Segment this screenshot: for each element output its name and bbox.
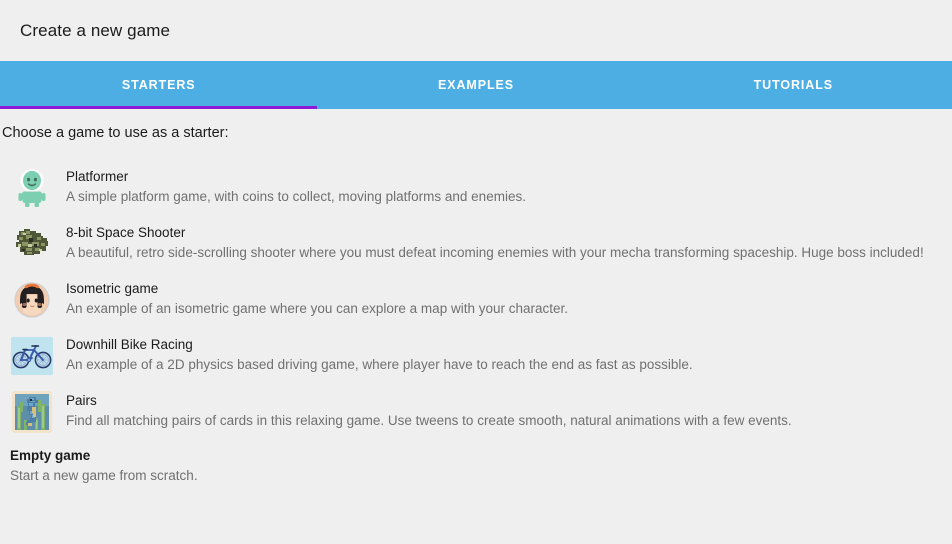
list-item-empty-game[interactable]: Empty game Start a new game from scratch… [0, 440, 952, 492]
list-item[interactable]: Downhill Bike Racing An example of a 2D … [0, 328, 952, 384]
list-item[interactable]: Isometric game An example of an isometri… [0, 272, 952, 328]
empty-game-description: Start a new game from scratch. [10, 466, 938, 486]
tab-examples-label: EXAMPLES [438, 78, 514, 92]
pixel-spaceship-icon [10, 222, 54, 266]
tab-tutorials-label: TUTORIALS [754, 78, 833, 92]
dialog-header: Create a new game [0, 0, 952, 61]
tab-bar: STARTERS EXAMPLES TUTORIALS [0, 61, 952, 109]
green-alien-character-icon [10, 166, 54, 210]
list-item-text: Platformer A simple platform game, with … [66, 166, 938, 207]
list-item-text: Pairs Find all matching pairs of cards i… [66, 390, 938, 431]
game-description: An example of a 2D physics based driving… [66, 355, 938, 375]
list-item[interactable]: Pairs Find all matching pairs of cards i… [0, 384, 952, 440]
tab-examples[interactable]: EXAMPLES [317, 61, 634, 109]
game-description: A simple platform game, with coins to co… [66, 187, 938, 207]
tab-starters-label: STARTERS [122, 78, 196, 92]
tab-tutorials[interactable]: TUTORIALS [635, 61, 952, 109]
game-description: Find all matching pairs of cards in this… [66, 411, 938, 431]
seahorse-card-icon [10, 390, 54, 434]
page-title: Create a new game [20, 21, 170, 41]
game-title: Pairs [66, 391, 938, 411]
game-title: Platformer [66, 167, 938, 187]
list-item-text: Downhill Bike Racing An example of a 2D … [66, 334, 938, 375]
game-title: Downhill Bike Racing [66, 335, 938, 355]
game-title: 8-bit Space Shooter [66, 223, 938, 243]
starter-game-list: Platformer A simple platform game, with … [0, 160, 952, 492]
list-item-text: Isometric game An example of an isometri… [66, 278, 938, 319]
dialog-body: Choose a game to use as a starter: [0, 109, 952, 544]
character-avatar-icon [10, 278, 54, 322]
chooser-label: Choose a game to use as a starter: [0, 109, 952, 142]
game-description: An example of an isometric game where yo… [66, 299, 938, 319]
game-title: Isometric game [66, 279, 938, 299]
empty-game-title: Empty game [10, 446, 938, 466]
list-item[interactable]: 8-bit Space Shooter A beautiful, retro s… [0, 216, 952, 272]
tab-starters[interactable]: STARTERS [0, 61, 317, 109]
game-description: A beautiful, retro side-scrolling shoote… [66, 243, 938, 263]
create-new-game-dialog: Create a new game STARTERS EXAMPLES TUTO… [0, 0, 952, 544]
list-item-text: 8-bit Space Shooter A beautiful, retro s… [66, 222, 938, 263]
list-item[interactable]: Platformer A simple platform game, with … [0, 160, 952, 216]
bicycle-icon [10, 334, 54, 378]
